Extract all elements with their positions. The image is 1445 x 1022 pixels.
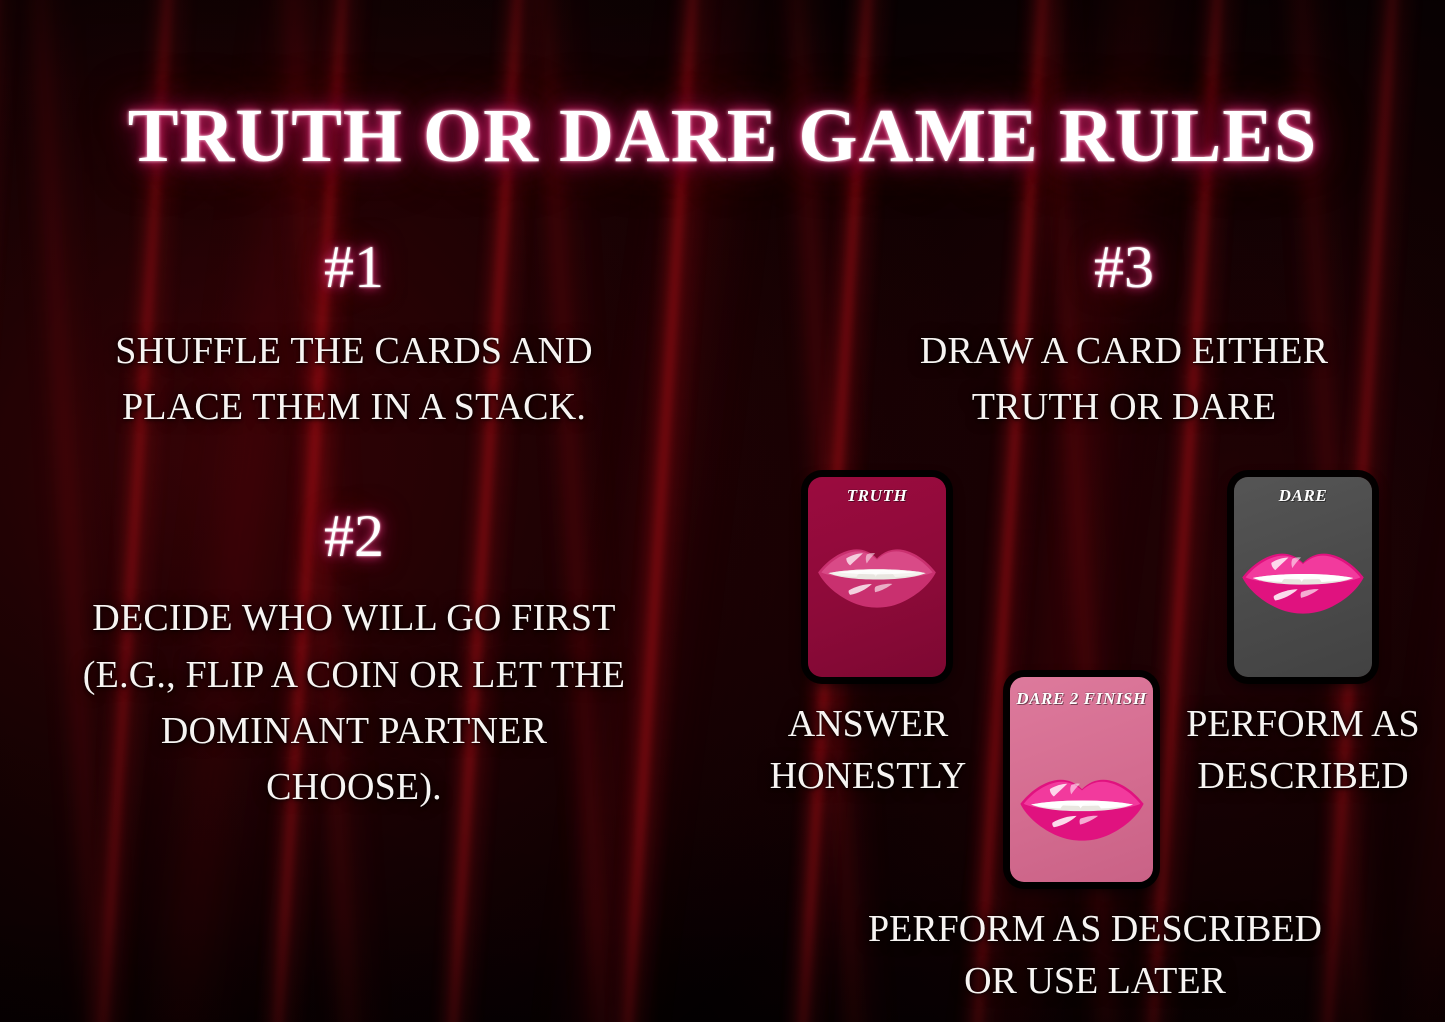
card-truth[interactable]: TRUTH xyxy=(808,477,946,677)
lips-icon xyxy=(1015,773,1149,847)
rule-text-1-line-2: PLACE THEM IN A STACK. xyxy=(24,379,684,435)
rule-number-3: #3 xyxy=(826,236,1422,299)
card-truth-label: TRUTH xyxy=(808,486,946,506)
caption-dare-line-2: DESCRIBED xyxy=(1172,750,1434,802)
page-title: TRUTH OR DARE GAME RULES xyxy=(0,99,1445,173)
rule-text-1: SHUFFLE THE CARDS AND PLACE THEM IN A ST… xyxy=(24,323,684,435)
caption-dare-2-finish-line-2: OR USE LATER xyxy=(752,955,1438,1007)
lips-icon xyxy=(813,543,941,613)
rule-text-2-line-4: CHOOSE). xyxy=(24,759,684,815)
page-title-line-2: RULES xyxy=(1059,94,1317,178)
caption-dare-line-1: PERFORM AS xyxy=(1172,698,1434,750)
page-title-line-1: TRUTH OR DARE GAME xyxy=(128,94,1039,178)
card-dare-label: DARE xyxy=(1234,486,1372,506)
rules-column-left: #1 SHUFFLE THE CARDS AND PLACE THEM IN A… xyxy=(24,236,684,815)
caption-truth-line-1: ANSWER xyxy=(752,698,984,750)
rule-text-3: DRAW A CARD EITHER TRUTH OR DARE xyxy=(826,323,1422,435)
rule-text-3-line-2: TRUTH OR DARE xyxy=(826,379,1422,435)
caption-dare: PERFORM AS DESCRIBED xyxy=(1172,698,1434,803)
caption-dare-2-finish: PERFORM AS DESCRIBED OR USE LATER xyxy=(752,903,1438,1008)
rule-text-2: DECIDE WHO WILL GO FIRST (E.G., FLIP A C… xyxy=(24,590,684,815)
rule-text-3-line-1: DRAW A CARD EITHER xyxy=(826,323,1422,379)
rule-number-1: #1 xyxy=(24,236,684,299)
rules-column-right: #3 DRAW A CARD EITHER TRUTH OR DARE xyxy=(826,236,1422,435)
rule-text-2-line-2: (E.G., FLIP A COIN OR LET THE xyxy=(24,647,684,703)
card-dare-2-finish[interactable]: DARE 2 FINISH xyxy=(1010,677,1153,882)
rule-block-2: #2 DECIDE WHO WILL GO FIRST (E.G., FLIP … xyxy=(24,505,684,815)
rule-block-3: #3 DRAW A CARD EITHER TRUTH OR DARE xyxy=(826,236,1422,435)
rule-text-2-line-1: DECIDE WHO WILL GO FIRST xyxy=(24,590,684,646)
card-dare-2-finish-label: DARE 2 FINISH xyxy=(1010,689,1153,709)
rule-block-1: #1 SHUFFLE THE CARDS AND PLACE THEM IN A… xyxy=(24,236,684,435)
rule-text-1-line-1: SHUFFLE THE CARDS AND xyxy=(24,323,684,379)
rule-number-2: #2 xyxy=(24,505,684,568)
truth-or-dare-rules-poster: TRUTH OR DARE GAME RULES #1 SHUFFLE THE … xyxy=(0,0,1445,1022)
lips-icon xyxy=(1237,547,1369,620)
rule-text-2-line-3: DOMINANT PARTNER xyxy=(24,703,684,759)
caption-dare-2-finish-line-1: PERFORM AS DESCRIBED xyxy=(752,903,1438,955)
caption-truth-line-2: HONESTLY xyxy=(752,750,984,802)
card-dare[interactable]: DARE xyxy=(1234,477,1372,677)
caption-truth: ANSWER HONESTLY xyxy=(752,698,984,803)
